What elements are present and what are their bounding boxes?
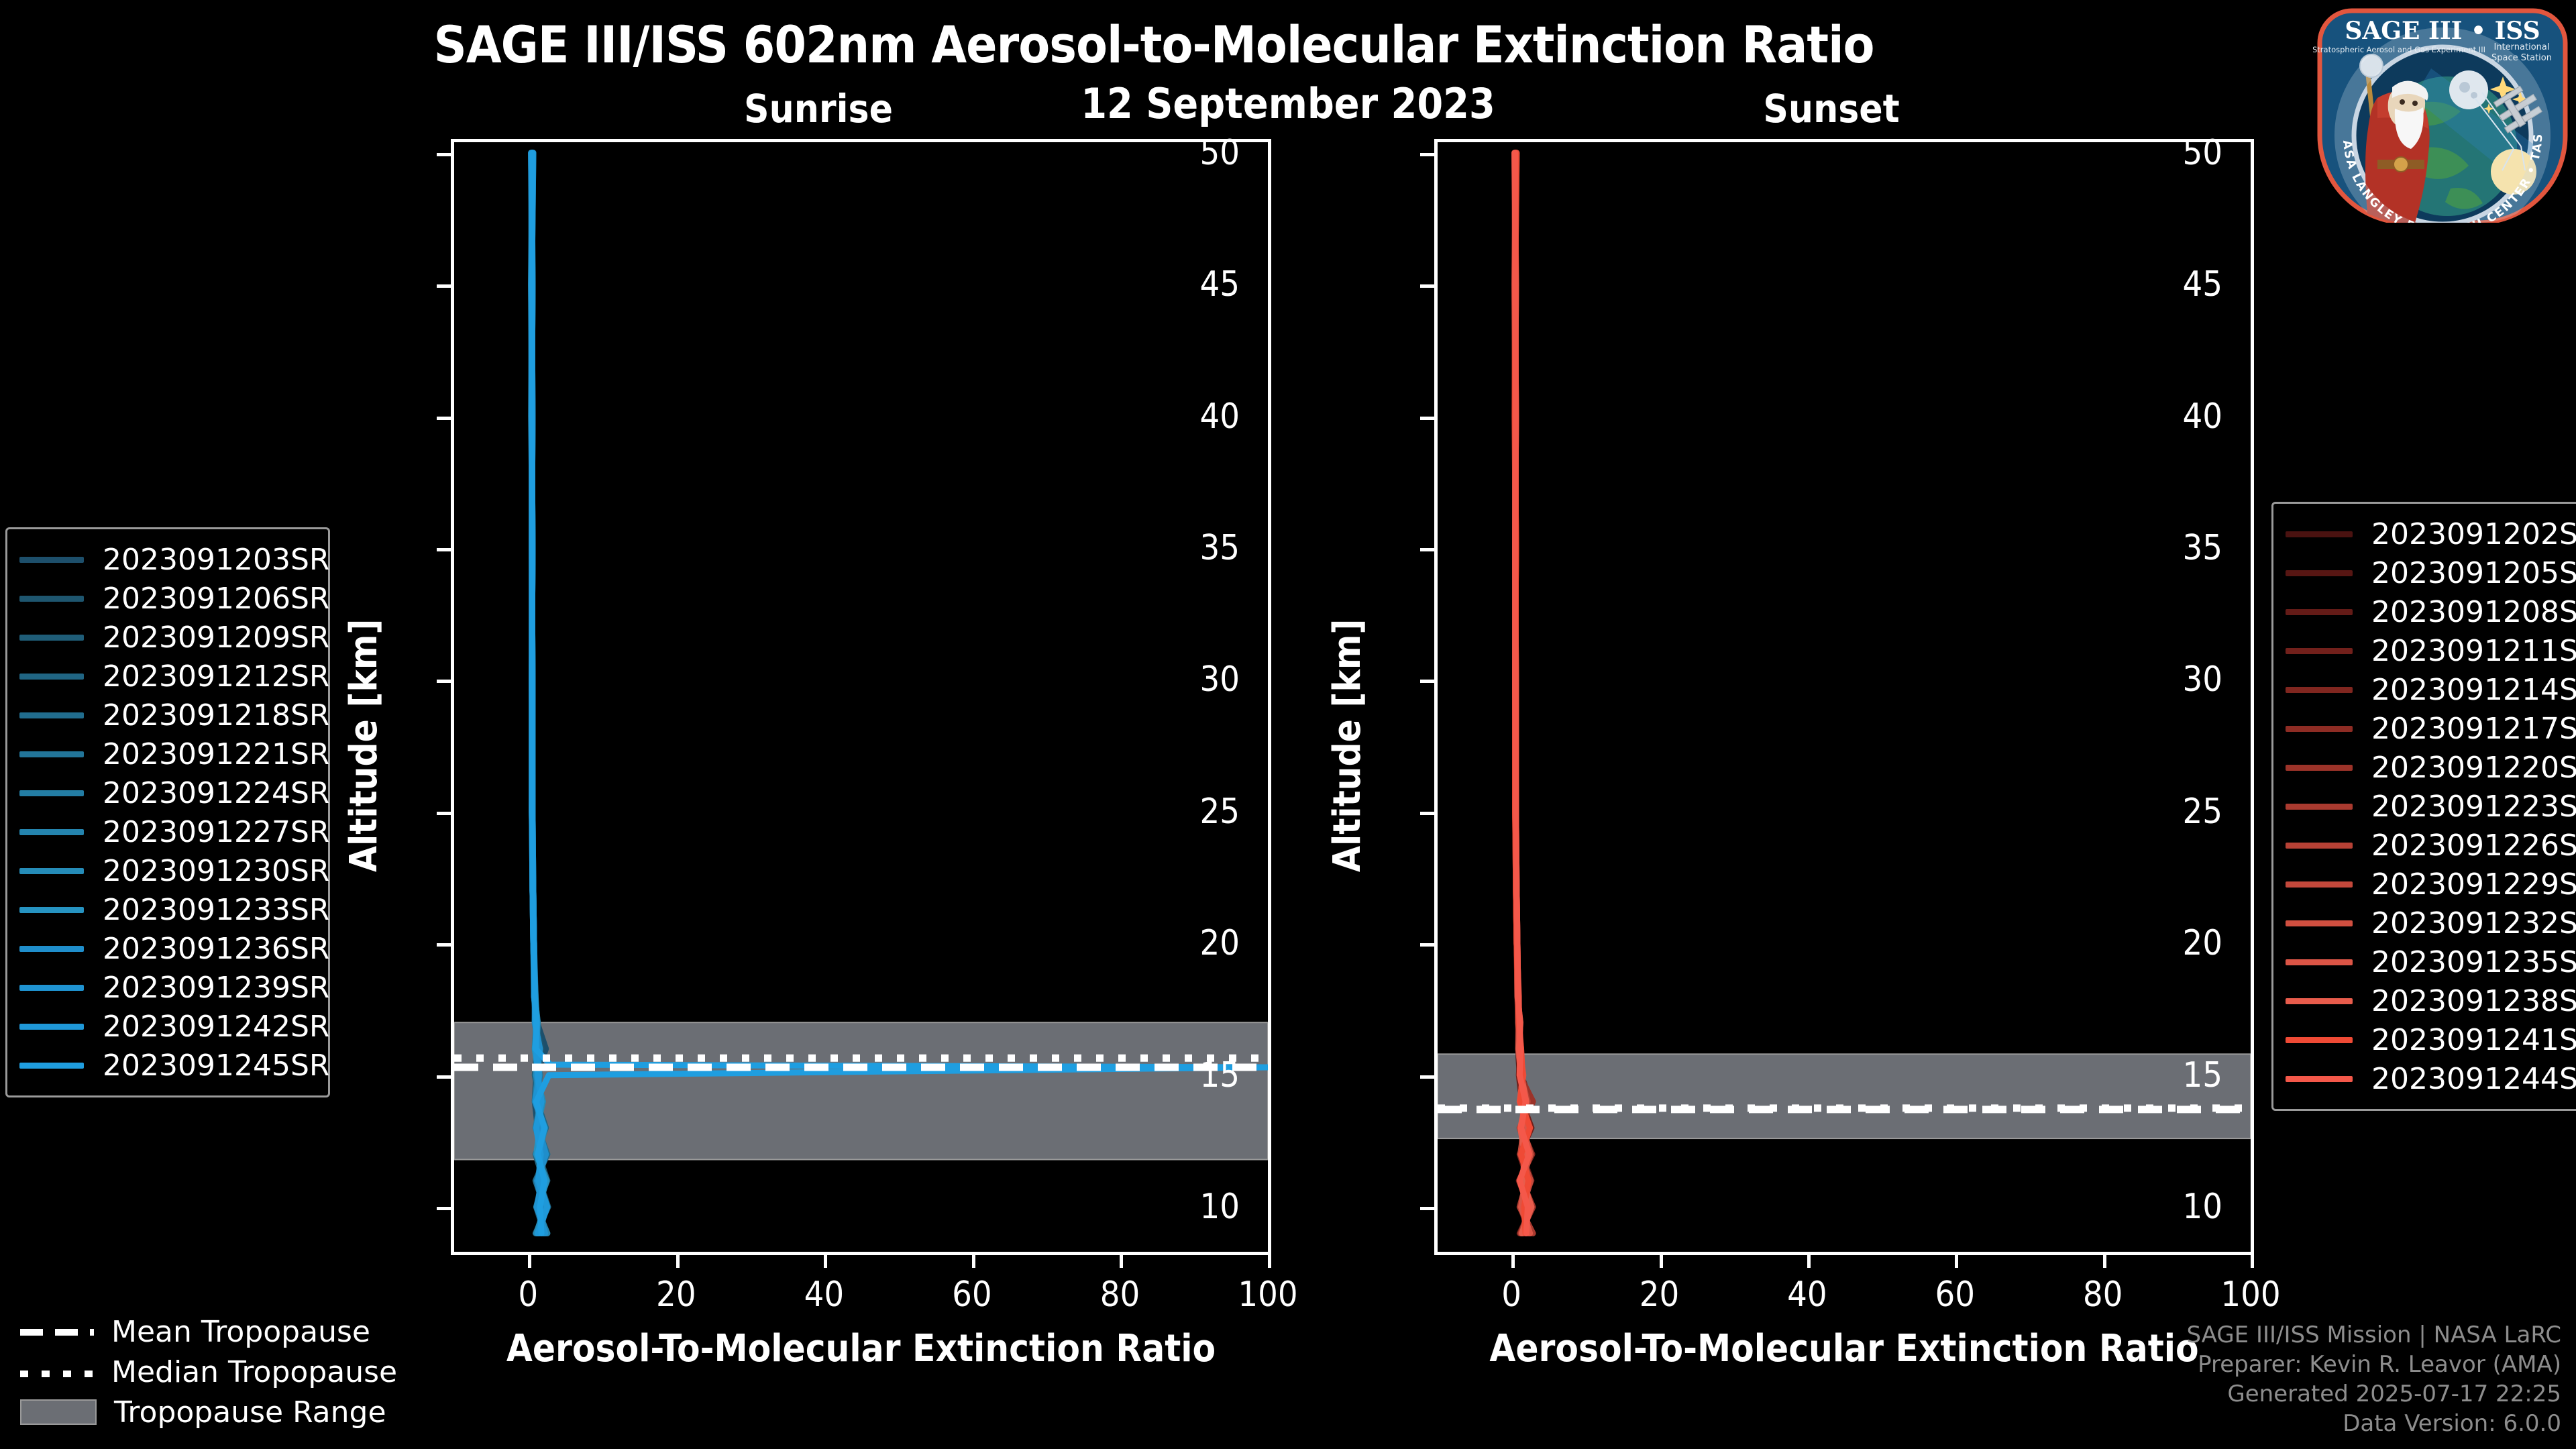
credits-preparer: Preparer: Kevin R. Leavor (AMA) — [2186, 1350, 2561, 1379]
y-tick-mark — [437, 680, 454, 683]
legend-label: 2023091206SR — [103, 582, 311, 616]
legend-item[interactable]: 2023091238SS — [2286, 981, 2576, 1020]
y-tick-label: 10 — [2102, 1187, 2222, 1227]
legend-color-swatch — [19, 1063, 84, 1069]
legend-item[interactable]: 2023091236SR — [19, 929, 311, 968]
x-tick-label: 0 — [518, 1275, 538, 1315]
legend-color-swatch — [2286, 648, 2353, 654]
legend-color-swatch — [2286, 843, 2353, 849]
legend-item[interactable]: 2023091227SR — [19, 812, 311, 851]
y-tick-label: 35 — [2102, 528, 2222, 568]
legend-item[interactable]: 2023091229SS — [2286, 865, 2576, 904]
y-tick-mark — [1420, 417, 1438, 420]
legend-item[interactable]: 2023091202SS — [2286, 515, 2576, 553]
x-tick-mark — [1955, 1252, 1958, 1268]
legend-color-swatch — [19, 868, 84, 874]
y-tick-mark — [1420, 680, 1438, 683]
legend-label: 2023091202SS — [2371, 517, 2576, 551]
x-tick-mark — [528, 1252, 531, 1268]
y-tick-label: 50 — [2102, 133, 2222, 173]
legend-label: 2023091218SR — [103, 698, 311, 733]
legend-item-median-tropopause: Median Tropopause — [20, 1352, 397, 1392]
legend-tropopause: Mean Tropopause Median Tropopause Tropop… — [20, 1311, 397, 1432]
legend-label: 2023091208SS — [2371, 595, 2576, 629]
y-tick-label: 45 — [2102, 264, 2222, 305]
x-tick-label: 40 — [804, 1275, 845, 1315]
legend-color-swatch — [19, 985, 84, 991]
legend-color-swatch — [2286, 531, 2353, 537]
x-tick-mark — [1511, 1252, 1515, 1268]
legend-label: 2023091209SR — [103, 621, 311, 655]
legend-item[interactable]: 2023091242SR — [19, 1007, 311, 1046]
legend-item[interactable]: 2023091244SS — [2286, 1059, 2576, 1098]
legend-color-swatch — [2286, 726, 2353, 732]
legend-label: 2023091221SR — [103, 737, 311, 771]
legend-label: 2023091226SS — [2371, 828, 2576, 863]
legend-color-swatch — [19, 751, 84, 757]
x-tick-mark — [824, 1252, 827, 1268]
legend-label: 2023091236SR — [103, 932, 311, 966]
credits-mission: SAGE III/ISS Mission | NASA LaRC — [2186, 1320, 2561, 1350]
x-tick-label: 80 — [1100, 1275, 1140, 1315]
legend-item[interactable]: 2023091235SS — [2286, 943, 2576, 981]
legend-label: 2023091220SS — [2371, 751, 2576, 785]
legend-item[interactable]: 2023091233SR — [19, 890, 311, 929]
legend-color-swatch — [2286, 998, 2353, 1004]
legend-item-mean-tropopause: Mean Tropopause — [20, 1311, 397, 1352]
legend-color-swatch — [2286, 881, 2353, 888]
legend-color-swatch — [19, 674, 84, 680]
x-tick-label: 0 — [1501, 1275, 1521, 1315]
y-tick-label: 25 — [1119, 792, 1240, 832]
legend-label: 2023091203SR — [103, 543, 311, 577]
x-tick-mark — [1268, 1252, 1271, 1268]
legend-item[interactable]: 2023091232SS — [2286, 904, 2576, 943]
y-tick-label: 35 — [1119, 528, 1240, 568]
legend-item[interactable]: 2023091214SS — [2286, 670, 2576, 709]
legend-label: 2023091230SR — [103, 854, 311, 888]
y-tick-label: 40 — [1119, 396, 1240, 437]
legend-label: 2023091241SS — [2371, 1023, 2576, 1057]
legend-label: 2023091245SR — [103, 1049, 311, 1083]
sage-iii-iss-mission-patch-logo: SAGE III • ISS Stratospheric Aerosol and… — [2313, 4, 2572, 223]
y-tick-label: 25 — [2102, 792, 2222, 832]
legend-label: 2023091232SS — [2371, 906, 2576, 941]
legend-color-swatch — [2286, 765, 2353, 771]
date-subtitle: 12 September 2023 — [0, 79, 2576, 128]
y-tick-mark — [437, 1207, 454, 1210]
plot-area-sunset: 101520253035404550 020406080100 Aerosol-… — [1434, 139, 2254, 1255]
x-axis-title-sunrise: Aerosol-To-Molecular Extinction Ratio — [454, 1327, 1268, 1371]
plot-area-sunrise: 101520253035404550 020406080100 Aerosol-… — [451, 139, 1271, 1255]
page-title: SAGE III/ISS 602nm Aerosol-to-Molecular … — [0, 15, 2308, 74]
x-tick-label: 60 — [952, 1275, 992, 1315]
legend-label-mean-tropopause: Mean Tropopause — [111, 1315, 370, 1349]
legend-color-swatch — [19, 712, 84, 718]
y-axis-title-sunrise: Altitude [km] — [342, 619, 386, 872]
legend-label: 2023091212SR — [103, 659, 311, 694]
legend-label-median-tropopause: Median Tropopause — [111, 1355, 397, 1389]
x-tick-label: 20 — [656, 1275, 696, 1315]
x-tick-mark — [2103, 1252, 2106, 1268]
legend-color-swatch — [2286, 687, 2353, 693]
credits-block: SAGE III/ISS Mission | NASA LaRC Prepare… — [2186, 1320, 2561, 1438]
x-tick-label: 100 — [1238, 1275, 1297, 1315]
y-tick-label: 45 — [1119, 264, 1240, 305]
legend-label: 2023091217SS — [2371, 712, 2576, 746]
y-tick-label: 50 — [1119, 133, 1240, 173]
logo-title: SAGE III • ISS — [2345, 17, 2540, 45]
x-tick-label: 40 — [1787, 1275, 1827, 1315]
legend-item[interactable]: 2023091223SS — [2286, 787, 2576, 826]
legend-color-swatch — [2286, 609, 2353, 615]
legend-color-swatch — [2286, 920, 2353, 926]
y-tick-mark — [437, 417, 454, 420]
legend-item[interactable]: 2023091209SR — [19, 618, 311, 657]
legend-label: 2023091223SS — [2371, 790, 2576, 824]
legend-color-swatch — [19, 907, 84, 913]
x-tick-mark — [1120, 1252, 1123, 1268]
panel-title-sunset: Sunset — [1597, 86, 2066, 131]
legend-label: 2023091211SS — [2371, 634, 2576, 668]
legend-item[interactable]: 2023091241SS — [2286, 1020, 2576, 1059]
legend-color-swatch — [19, 1024, 84, 1030]
legend-color-swatch — [2286, 1076, 2353, 1082]
legend-label: 2023091235SS — [2371, 945, 2576, 979]
x-tick-mark — [676, 1252, 680, 1268]
legend-item[interactable]: 2023091221SR — [19, 735, 311, 773]
x-tick-label: 60 — [1935, 1275, 1976, 1315]
legend-label: 2023091224SR — [103, 776, 311, 810]
x-tick-label: 80 — [2083, 1275, 2123, 1315]
y-tick-mark — [437, 548, 454, 551]
legend-item[interactable]: 2023091205SS — [2286, 553, 2576, 592]
legend-label: 2023091227SR — [103, 815, 311, 849]
legend-item[interactable]: 2023091220SS — [2286, 748, 2576, 787]
y-tick-mark — [437, 812, 454, 815]
legend-color-swatch — [19, 946, 84, 952]
legend-color-swatch — [19, 790, 84, 796]
legend-color-swatch — [2286, 804, 2353, 810]
y-tick-mark — [1420, 1075, 1438, 1079]
y-tick-mark — [1420, 943, 1438, 947]
legend-item[interactable]: 2023091230SR — [19, 851, 311, 890]
y-tick-mark — [437, 1075, 454, 1079]
legend-item[interactable]: 2023091206SR — [19, 579, 311, 618]
legend-label: 2023091244SS — [2371, 1062, 2576, 1096]
y-tick-label: 20 — [2102, 923, 2222, 963]
dotted-line-icon — [20, 1362, 94, 1382]
y-tick-label: 30 — [1119, 659, 1240, 700]
y-tick-mark — [1420, 548, 1438, 551]
legend-item[interactable]: 2023091245SR — [19, 1046, 311, 1085]
legend-color-swatch — [19, 829, 84, 835]
legend-item[interactable]: 2023091239SR — [19, 968, 311, 1007]
legend-item[interactable]: 2023091211SS — [2286, 631, 2576, 670]
x-tick-mark — [2251, 1252, 2254, 1268]
legend-sunrise[interactable]: 2023091203SR2023091206SR2023091209SR2023… — [5, 527, 330, 1097]
y-tick-label: 20 — [1119, 923, 1240, 963]
y-tick-mark — [437, 943, 454, 947]
legend-item[interactable]: 2023091217SS — [2286, 709, 2576, 748]
legend-item[interactable]: 2023091224SR — [19, 773, 311, 812]
y-tick-mark — [437, 284, 454, 288]
panel-title-sunrise: Sunrise — [584, 86, 1053, 131]
legend-color-swatch — [2286, 570, 2353, 576]
band-swatch-icon — [20, 1399, 97, 1425]
logo-subtitle-left: Stratospheric Aerosol and Gas Experiment… — [2313, 45, 2485, 54]
legend-color-swatch — [2286, 1037, 2353, 1043]
legend-item-tropopause-range: Tropopause Range — [20, 1392, 397, 1432]
legend-label-tropopause-range: Tropopause Range — [114, 1395, 386, 1430]
logo-subtitle-right-2: Space Station — [2491, 53, 2552, 63]
y-tick-mark — [1420, 812, 1438, 815]
legend-label: 2023091229SS — [2371, 867, 2576, 902]
y-tick-label: 30 — [2102, 659, 2222, 700]
credits-generated: Generated 2025-07-17 22:25 — [2186, 1379, 2561, 1409]
y-tick-label: 40 — [2102, 396, 2222, 437]
y-tick-mark — [1420, 153, 1438, 156]
y-tick-mark — [437, 153, 454, 156]
x-tick-mark — [1660, 1252, 1663, 1268]
y-tick-mark — [1420, 1207, 1438, 1210]
legend-item[interactable]: 2023091218SR — [19, 696, 311, 735]
legend-color-swatch — [19, 596, 84, 602]
legend-label: 2023091233SR — [103, 893, 311, 927]
legend-label: 2023091214SS — [2371, 673, 2576, 707]
legend-item[interactable]: 2023091203SR — [19, 540, 311, 579]
y-axis-title-sunset: Altitude [km] — [1326, 619, 1369, 872]
x-tick-label: 20 — [1640, 1275, 1680, 1315]
y-tick-mark — [1420, 284, 1438, 288]
x-tick-mark — [1807, 1252, 1811, 1268]
dashed-line-icon — [20, 1322, 94, 1342]
legend-item[interactable]: 2023091212SR — [19, 657, 311, 696]
y-tick-label: 10 — [1119, 1187, 1240, 1227]
legend-label: 2023091238SS — [2371, 984, 2576, 1018]
legend-color-swatch — [2286, 959, 2353, 965]
logo-subtitle-right-1: International — [2494, 42, 2550, 52]
legend-label: 2023091239SR — [103, 971, 311, 1005]
credits-data-version: Data Version: 6.0.0 — [2186, 1409, 2561, 1438]
y-tick-label: 15 — [2102, 1055, 2222, 1095]
x-tick-label: 100 — [2220, 1275, 2280, 1315]
y-tick-label: 15 — [1119, 1055, 1240, 1095]
legend-sunset[interactable]: 2023091202SS2023091205SS2023091208SS2023… — [2271, 502, 2576, 1111]
x-axis-title-sunset: Aerosol-To-Molecular Extinction Ratio — [1438, 1327, 2251, 1371]
legend-color-swatch — [19, 557, 84, 563]
legend-label: 2023091242SR — [103, 1010, 311, 1044]
x-tick-mark — [972, 1252, 975, 1268]
legend-item[interactable]: 2023091208SS — [2286, 592, 2576, 631]
legend-color-swatch — [19, 635, 84, 641]
legend-label: 2023091205SS — [2371, 556, 2576, 590]
legend-item[interactable]: 2023091226SS — [2286, 826, 2576, 865]
